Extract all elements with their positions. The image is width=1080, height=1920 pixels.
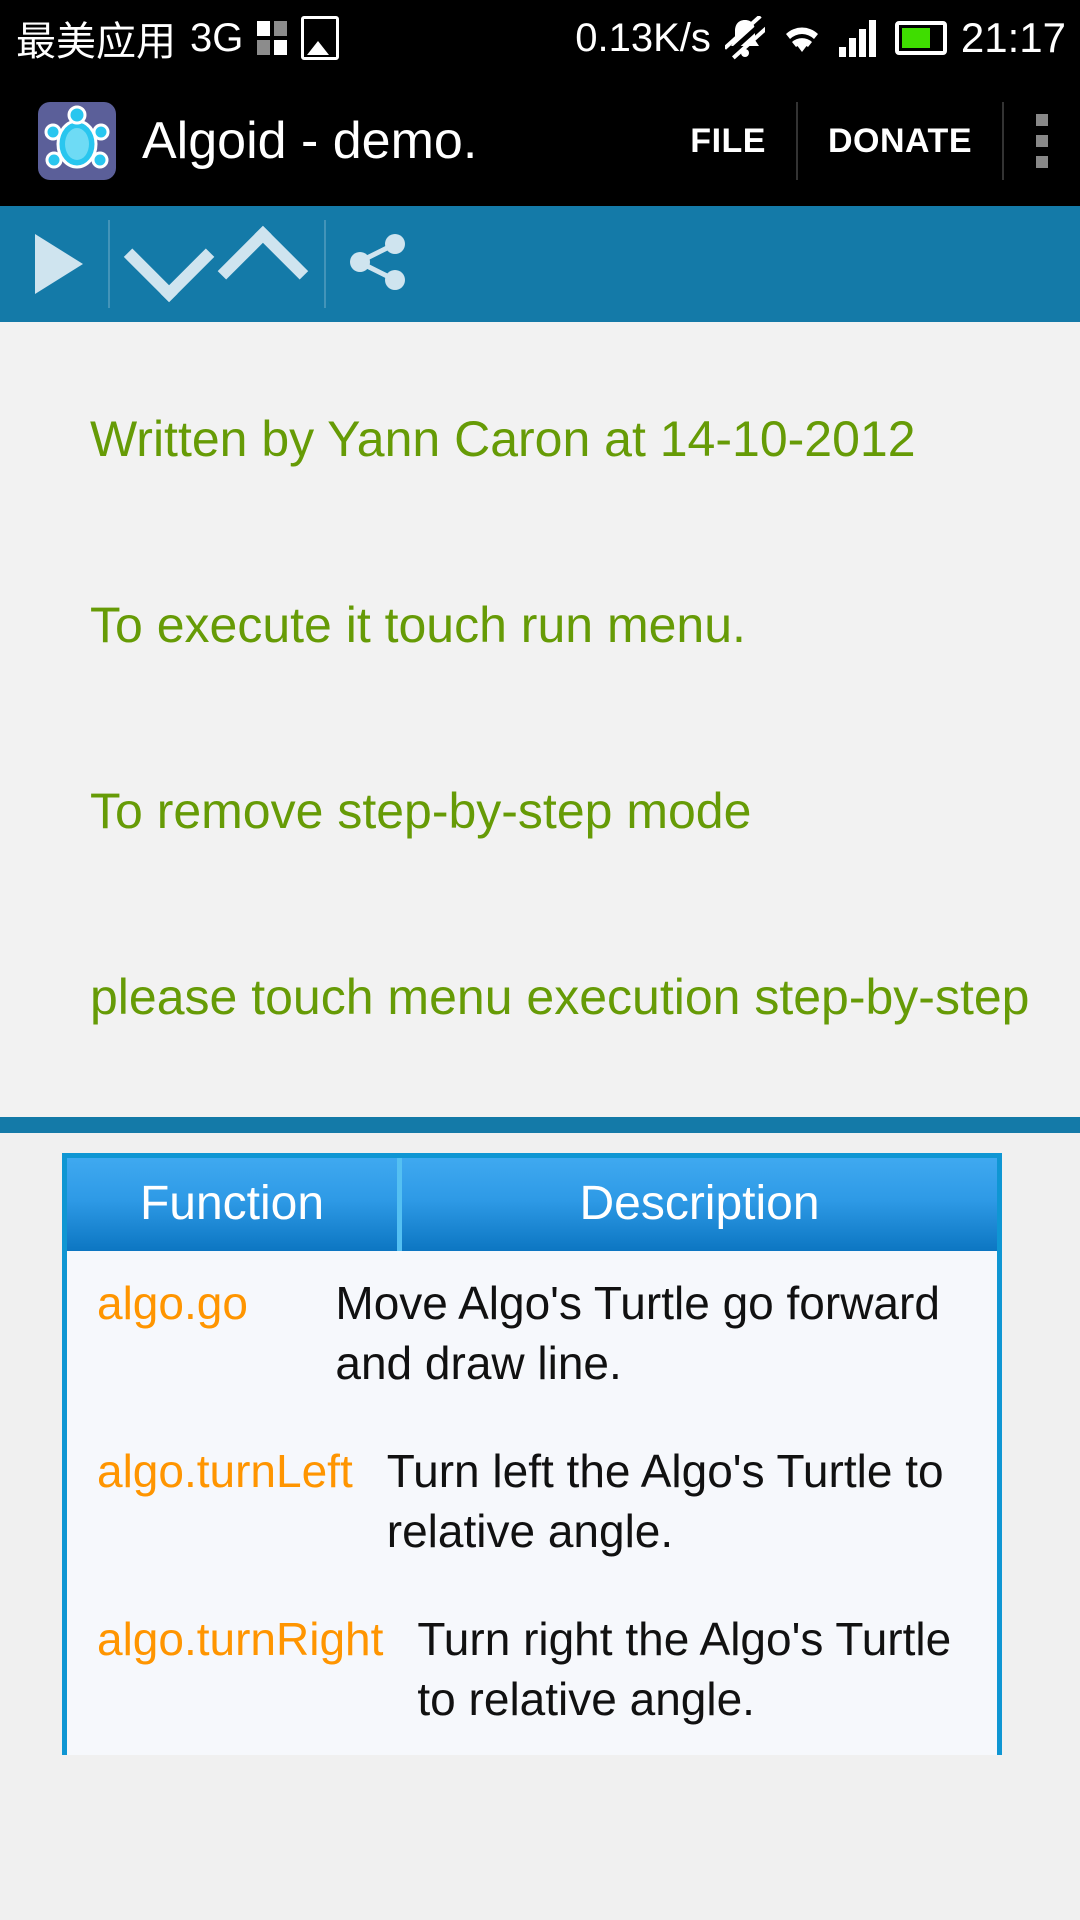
table-row[interactable]: algo.go Move Algo's Turtle go forward an… <box>67 1251 997 1419</box>
scroll-down-button[interactable] <box>108 206 216 322</box>
status-bar-right: 0.13K/s 21:1 <box>575 14 1066 62</box>
cell-function: algo.turnRight <box>67 1587 401 1755</box>
net-speed-label: 0.13K/s <box>575 16 711 61</box>
run-button[interactable] <box>0 206 108 322</box>
code-line: To remove step-by-step mode <box>0 780 1080 842</box>
table-row[interactable]: algo.turnRight Turn right the Algo's Tur… <box>67 1587 997 1755</box>
scroll-up-button[interactable] <box>216 206 324 322</box>
cell-description: Turn right the Algo's Turtle to relative… <box>401 1587 997 1755</box>
code-content[interactable]: Written by Yann Caron at 14-10-2012 To e… <box>0 322 1080 1120</box>
editor-toolbar <box>0 206 1080 322</box>
table-row[interactable]: algo.turnLeft Turn left the Algo's Turtl… <box>67 1419 997 1587</box>
column-function[interactable]: Function <box>67 1158 402 1251</box>
share-button[interactable] <box>324 206 432 322</box>
app-bar: Algoid - demo. FILE DONATE <box>0 76 1080 206</box>
share-icon <box>347 231 409 298</box>
carrier-label: 最美应用 <box>16 9 176 67</box>
table-header-row: Function Description <box>67 1158 997 1251</box>
menu-file[interactable]: FILE <box>660 122 796 161</box>
play-icon <box>35 234 83 294</box>
chevron-up-icon <box>218 226 309 317</box>
network-type-label: 3G <box>190 16 243 61</box>
clock-label: 21:17 <box>961 14 1066 62</box>
help-reference-pane[interactable]: Function Description algo.go Move Algo's… <box>0 1133 1080 1920</box>
cell-description: Move Algo's Turtle go forward and draw l… <box>319 1251 997 1419</box>
status-bar: 最美应用 3G 0.13K/s <box>0 0 1080 76</box>
function-reference-table: Function Description algo.go Move Algo's… <box>62 1153 1002 1755</box>
bell-muted-icon <box>725 16 765 60</box>
battery-icon <box>895 21 947 55</box>
cell-function: algo.go <box>67 1251 319 1419</box>
phone-screen: 最美应用 3G 0.13K/s <box>0 0 1080 1920</box>
code-editor[interactable]: Written by Yann Caron at 14-10-2012 To e… <box>0 322 1080 1120</box>
wifi-icon <box>779 18 825 58</box>
chevron-down-icon <box>124 212 215 303</box>
image-icon <box>301 16 339 60</box>
algoid-turtle-logo <box>38 102 116 180</box>
page-title: Algoid - demo. <box>142 111 477 171</box>
status-bar-left: 最美应用 3G <box>16 9 339 67</box>
table-body: algo.go Move Algo's Turtle go forward an… <box>67 1251 997 1755</box>
signal-bars-icon <box>839 19 881 57</box>
cell-description: Turn left the Algo's Turtle to relative … <box>371 1419 997 1587</box>
menu-donate[interactable]: DONATE <box>798 122 1002 161</box>
cell-function: algo.turnLeft <box>67 1419 371 1587</box>
overflow-menu-icon[interactable] <box>1004 76 1080 206</box>
code-line: Written by Yann Caron at 14-10-2012 <box>0 408 1080 470</box>
code-line: please touch menu execution step-by-step <box>0 966 1080 1028</box>
app-tiles-icon <box>257 21 287 55</box>
code-line: To execute it touch run menu. <box>0 594 1080 656</box>
column-description[interactable]: Description <box>402 1158 997 1251</box>
split-divider[interactable] <box>0 1117 1080 1133</box>
